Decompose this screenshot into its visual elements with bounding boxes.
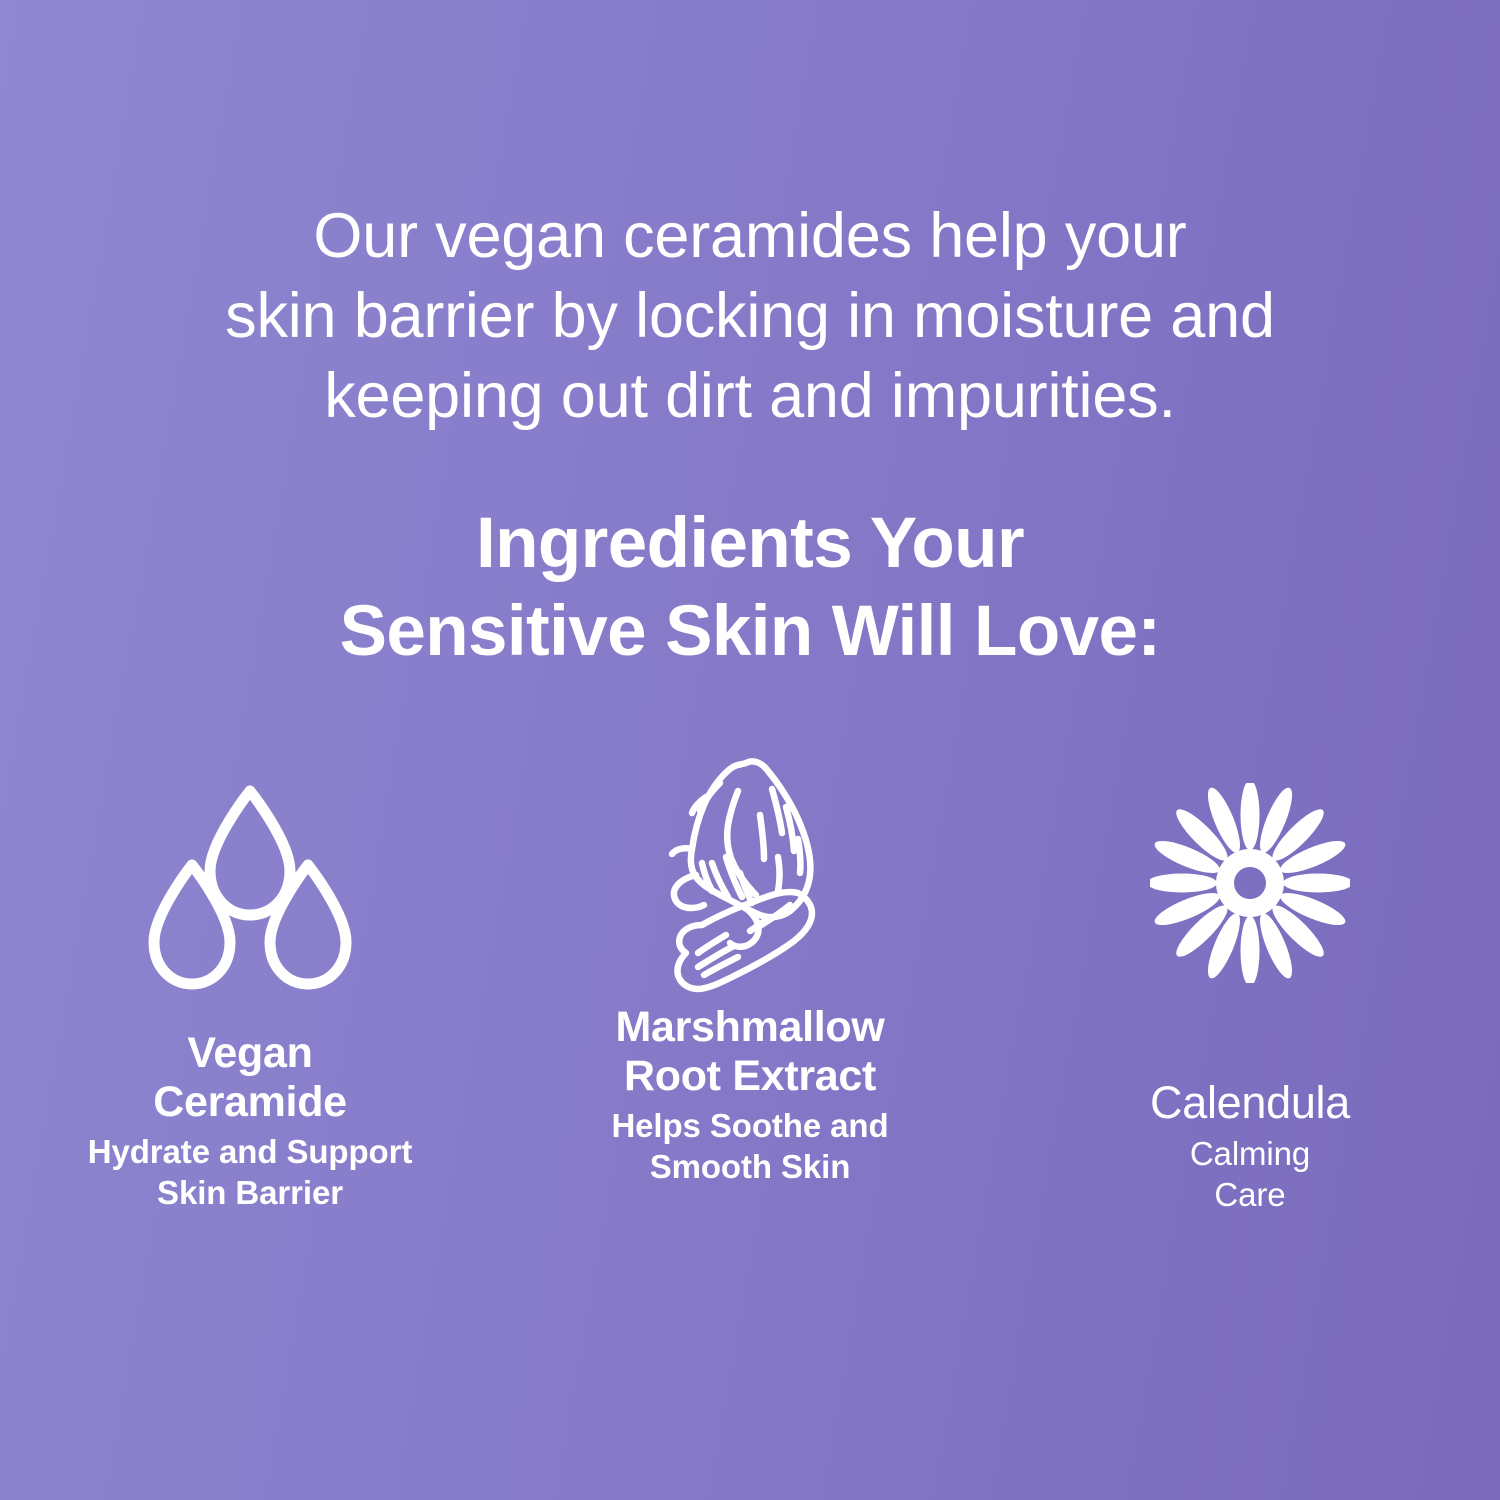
- ingredient-title-line-1: Calendula: [1000, 1077, 1500, 1129]
- ingredient-sub-line-1: Helps Soothe and: [500, 1105, 1000, 1146]
- water-drops-icon: [0, 735, 500, 1029]
- ingredient-subtitle: Hydrate and Support Skin Barrier: [0, 1131, 500, 1213]
- ingredient-title-line-2: Ceramide: [0, 1078, 500, 1127]
- section-heading: Ingredients Your Sensitive Skin Will Lov…: [0, 500, 1500, 676]
- marshmallow-root-icon: [500, 735, 1000, 1003]
- ingredient-sub-line-1: Hydrate and Support: [0, 1131, 500, 1172]
- intro-paragraph: Our vegan ceramides help your skin barri…: [0, 196, 1500, 436]
- ingredient-sub-line-2: Smooth Skin: [500, 1146, 1000, 1187]
- intro-line-2: skin barrier by locking in moisture and: [0, 276, 1500, 356]
- ingredient-item-marshmallow-root: Marshmallow Root Extract Helps Soothe an…: [500, 735, 1000, 1275]
- ingredient-title: Marshmallow Root Extract: [500, 1003, 1000, 1101]
- ingredient-sub-line-1: Calming: [1000, 1133, 1500, 1174]
- ingredient-caption: Vegan Ceramide Hydrate and Support Skin …: [0, 1029, 500, 1213]
- ingredient-list: Vegan Ceramide Hydrate and Support Skin …: [0, 735, 1500, 1275]
- ingredient-title-line-1: Marshmallow: [500, 1003, 1000, 1052]
- ingredient-sub-line-2: Skin Barrier: [0, 1172, 500, 1213]
- ingredient-subtitle: Calming Care: [1000, 1133, 1500, 1215]
- ingredient-caption: Marshmallow Root Extract Helps Soothe an…: [500, 1003, 1000, 1187]
- ingredient-title: Vegan Ceramide: [0, 1029, 500, 1127]
- ingredient-subtitle: Helps Soothe and Smooth Skin: [500, 1105, 1000, 1187]
- intro-line-1: Our vegan ceramides help your: [0, 196, 1500, 276]
- ingredient-title-line-2: Root Extract: [500, 1052, 1000, 1101]
- intro-line-3: keeping out dirt and impurities.: [0, 356, 1500, 436]
- promo-banner: Our vegan ceramides help your skin barri…: [0, 0, 1500, 1500]
- ingredient-title: Calendula: [1000, 1077, 1500, 1129]
- ingredient-caption: Calendula Calming Care: [1000, 1033, 1500, 1215]
- ingredient-item-vegan-ceramide: Vegan Ceramide Hydrate and Support Skin …: [0, 735, 500, 1275]
- ingredient-item-calendula: Calendula Calming Care: [1000, 735, 1500, 1275]
- heading-line-2: Sensitive Skin Will Love:: [0, 588, 1500, 676]
- ingredient-title-line-1: Vegan: [0, 1029, 500, 1078]
- heading-line-1: Ingredients Your: [0, 500, 1500, 588]
- ingredient-sub-line-2: Care: [1000, 1174, 1500, 1215]
- calendula-flower-icon: [1000, 735, 1500, 1033]
